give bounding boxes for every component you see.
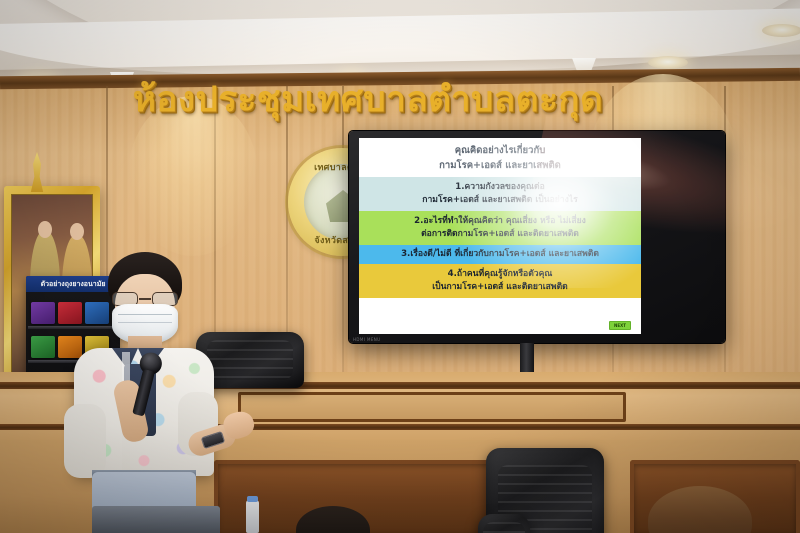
portrait-figure-head: [38, 221, 52, 238]
slide-title: คุณคิดอย่างไรเกี่ยวกับ กามโรค+เอดส์ และย…: [359, 138, 641, 177]
slide-title-line-1: คุณคิดอย่างไรเกี่ยวกับ: [363, 144, 637, 159]
slide-section-4-line-2: เป็นกามโรค+เอดส์ และติดยาเสพติด: [364, 281, 636, 294]
slide-section-3: 3.เรื่องดี/ไม่ดี ที่เกี่ยวกับกามโรค+เอดส…: [359, 245, 641, 264]
conference-chair[interactable]: [478, 514, 530, 533]
venue-sign: ห้องประชุมเทศบาลตำบลตะกุด: [138, 76, 598, 122]
slide-section-1: 1.ความกังวลของคุณต่อ กามโรค+เอดส์ และยาเ…: [359, 177, 641, 211]
slide-title-line-2: กามโรค+เอดส์ และยาเสพติด: [363, 159, 637, 174]
downlight-icon: [762, 24, 800, 37]
product-packet: [31, 336, 55, 358]
product-packet: [31, 302, 55, 324]
portrait-figure-head: [70, 223, 84, 240]
glasses-bridge: [139, 298, 151, 300]
slide-next-badge[interactable]: NEXT: [609, 321, 631, 330]
slide-section-4-line-1: 4.ถ้าคนที่คุณรู้จักหรือตัวคุณ: [364, 268, 636, 281]
podium-rail-inset: [238, 392, 626, 422]
slide-section-4: 4.ถ้าคนที่คุณรู้จักหรือตัวคุณ เป็นกามโรค…: [359, 264, 641, 298]
tv-screen[interactable]: คุณคิดอย่างไรเกี่ยวกับ กามโรค+เอดส์ และย…: [359, 138, 641, 334]
presenter-arm-left: [64, 404, 106, 478]
slide-section-3-line-1: 3.เรื่องดี/ไม่ดี ที่เกี่ยวกับกามโรค+เอดส…: [364, 248, 636, 261]
slide-section-2: 2.อะไรที่ทำให้คุณคิดว่า คุณเสี่ยง หรือ ไ…: [359, 211, 641, 245]
downlight-icon: [648, 56, 688, 69]
presentation-slide: คุณคิดอย่างไรเกี่ยวกับ กามโรค+เอดส์ และย…: [359, 138, 641, 334]
water-bottle: [246, 500, 259, 533]
presentation-tv[interactable]: คุณคิดอย่างไรเกี่ยวกับ กามโรค+เอดส์ และย…: [349, 131, 725, 343]
slide-footer: NEXT: [359, 298, 641, 334]
slide-section-2-line-1: 2.อะไรที่ทำให้คุณคิดว่า คุณเสี่ยง หรือ ไ…: [364, 215, 636, 228]
tv-bezel-label: HDMI MENU: [353, 337, 381, 342]
laptop[interactable]: [92, 506, 220, 533]
slide-section-1-line-1: 1.ความกังวลของคุณต่อ: [364, 181, 636, 194]
conference-room-photo: ห้องประชุมเทศบาลตำบลตะกุด เทศบาลตำบล จัง…: [0, 0, 800, 533]
water-bottle-cap: [247, 496, 258, 502]
slide-section-2-line-2: ต่อการติดกามโรค+เอดส์ และติดยาเสพติด: [364, 228, 636, 241]
slide-section-1-line-2: กามโรค+เอดส์ และยาเสพติด เป็นอย่างไร: [364, 194, 636, 207]
presenter: [60, 252, 260, 533]
